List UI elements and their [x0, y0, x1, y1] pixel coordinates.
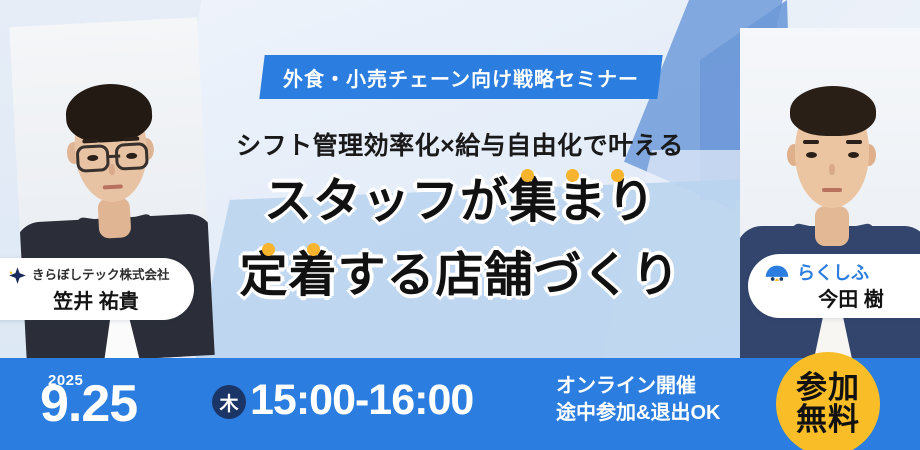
speaker-right-company-row: らくしふ [764, 262, 920, 283]
speaker-left-company: きらぼしテック株式会社 [32, 269, 170, 282]
event-format-line2: 途中参加&退出OK [556, 400, 720, 427]
event-format-line1: オンライン開催 [556, 373, 720, 400]
speaker-right-company: らくしふ [797, 264, 869, 282]
speaker-nameplate-left: きらぼしテック株式会社 笠井 祐貴 [0, 258, 194, 320]
emphasis-dot-icon-4 [262, 243, 275, 256]
emphasis-dot-icon-3 [611, 169, 624, 182]
speaker-nameplate-right: らくしふ 今田 樹 [748, 254, 920, 318]
webinar-banner: 外食・小売チェーン向け戦略セミナー シフト管理効率化×給与自由化で叶える スタッ… [0, 0, 920, 450]
event-day-of-week-badge: 木 [212, 385, 246, 419]
free-badge-line2: 無料 [796, 404, 860, 436]
emphasis-dot-icon-1 [521, 169, 534, 182]
seminar-tag-label: 外食・小売チェーン向け戦略セミナー [283, 63, 639, 92]
emphasis-dot-icon-5 [307, 243, 320, 256]
speaker-left-name: 笠井 祐貴 [8, 292, 194, 312]
emphasis-dot-icon-2 [566, 169, 579, 182]
headline-line-1: スタッフが集まり [0, 172, 920, 232]
free-badge-line1: 参加 [796, 372, 860, 404]
free-participation-badge: 参加 無料 [776, 352, 880, 450]
speaker-left-company-row: きらぼしテック株式会社 [8, 266, 194, 285]
speaker-right-name: 今田 樹 [764, 290, 920, 310]
bird-icon [764, 262, 790, 283]
event-time: 15:00-16:00 [250, 379, 473, 422]
seminar-tag-banner: 外食・小売チェーン向け戦略セミナー [259, 55, 662, 99]
event-format-info: オンライン開催 途中参加&退出OK [556, 373, 720, 427]
event-date: 9.25 [40, 378, 137, 430]
subtitle: シフト管理効率化×給与自由化で叶える [0, 126, 920, 162]
star-icon [8, 266, 27, 285]
